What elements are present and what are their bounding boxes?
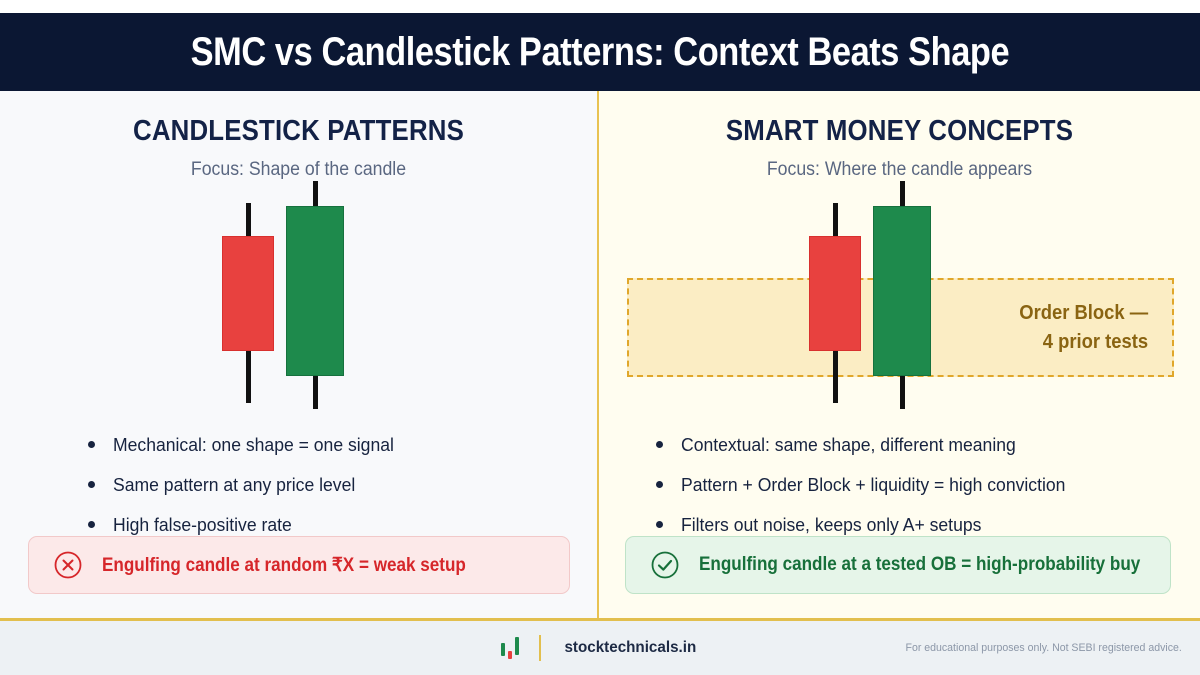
top-strip [0, 0, 1200, 13]
bullet-dot-icon [88, 521, 95, 528]
header-bar: SMC vs Candlestick Patterns: Context Bea… [0, 13, 1200, 91]
order-block-line2: 4 prior tests [1019, 328, 1148, 357]
left-panel-title: CANDLESTICK PATTERNS [33, 115, 564, 148]
panel-smart-money-concepts: SMART MONEY CONCEPTS Focus: Where the ca… [597, 91, 1200, 620]
list-item-label: Same pattern at any price level [113, 473, 355, 496]
list-item: High false-positive rate [88, 513, 409, 536]
bullet-dot-icon [656, 481, 663, 488]
order-block-label: Order Block — 4 prior tests [1019, 299, 1172, 357]
panels-container: CANDLESTICK PATTERNS Focus: Shape of the… [0, 91, 1200, 620]
left-panel-subtitle: Focus: Shape of the candle [21, 159, 576, 181]
bullish-candle-left [286, 181, 344, 409]
x-circle-icon [53, 550, 83, 580]
candle-body-bearish [222, 236, 274, 351]
list-item: Filters out noise, keeps only A+ setups [656, 513, 1086, 536]
check-circle-icon [650, 550, 680, 580]
list-item: Contextual: same shape, different meanin… [656, 433, 1086, 456]
footer-disclaimer: For educational purposes only. Not SEBI … [906, 621, 1182, 675]
list-item-label: High false-positive rate [113, 513, 292, 536]
left-panel-header: CANDLESTICK PATTERNS Focus: Shape of the… [0, 91, 597, 181]
panel-candlestick-patterns: CANDLESTICK PATTERNS Focus: Shape of the… [0, 91, 597, 620]
page-title: SMC vs Candlestick Patterns: Context Bea… [191, 30, 1010, 75]
list-item-label: Pattern + Order Block + liquidity = high… [681, 473, 1065, 496]
footer-bar: stocktechnicals.in For educational purpo… [0, 621, 1200, 675]
footer-brand-label: stocktechnicals.in [564, 639, 696, 657]
footer-vertical-divider [539, 635, 541, 661]
list-item: Pattern + Order Block + liquidity = high… [656, 473, 1086, 496]
callout-high-probability: Engulfing candle at a tested OB = high-p… [625, 536, 1171, 594]
right-candle-chart: Order Block — 4 prior tests [599, 181, 1200, 409]
right-panel-header: SMART MONEY CONCEPTS Focus: Where the ca… [599, 91, 1200, 181]
candle-body-bullish [286, 206, 344, 376]
right-panel-subtitle: Focus: Where the candle appears [620, 159, 1179, 181]
bearish-candle-left [222, 203, 274, 403]
infographic-root: SMC vs Candlestick Patterns: Context Bea… [0, 0, 1200, 675]
bullet-dot-icon [88, 481, 95, 488]
right-panel-title: SMART MONEY CONCEPTS [632, 115, 1167, 148]
candle-body-bullish [873, 206, 931, 376]
bearish-candle-right [809, 203, 861, 403]
candle-body-bearish [809, 236, 861, 351]
bullish-candle-right [873, 181, 931, 409]
bullet-dot-icon [656, 521, 663, 528]
list-item: Same pattern at any price level [88, 473, 409, 496]
candlestick-logo-icon [501, 637, 519, 659]
list-item-label: Mechanical: one shape = one signal [113, 433, 394, 456]
list-item-label: Filters out noise, keeps only A+ setups [681, 513, 981, 536]
list-item: Mechanical: one shape = one signal [88, 433, 409, 456]
order-block-line1: Order Block — [1019, 299, 1148, 328]
list-item-label: Contextual: same shape, different meanin… [681, 433, 1016, 456]
callout-label: Engulfing candle at a tested OB = high-p… [699, 554, 1140, 576]
callout-label: Engulfing candle at random ₹X = weak set… [102, 554, 466, 577]
bullet-dot-icon [656, 441, 663, 448]
left-candle-chart [0, 181, 597, 409]
callout-weak-setup: Engulfing candle at random ₹X = weak set… [28, 536, 570, 594]
bullet-dot-icon [88, 441, 95, 448]
